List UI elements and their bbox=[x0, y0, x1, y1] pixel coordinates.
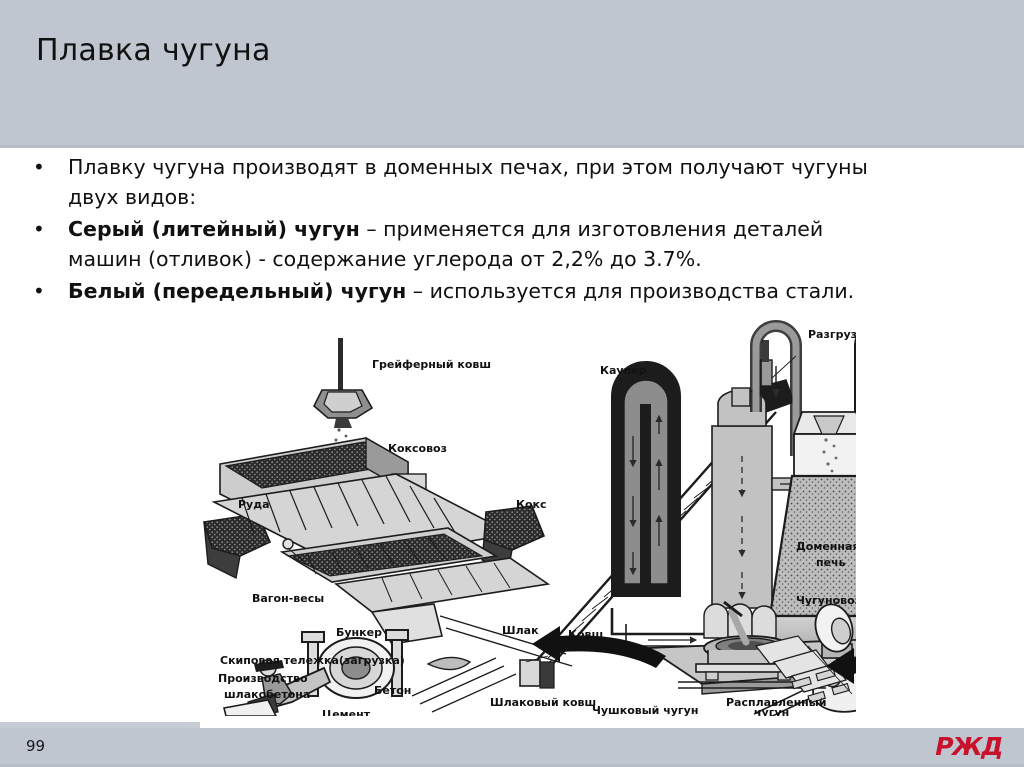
slide-footer: 99 РЖД bbox=[0, 728, 1024, 767]
label-grab-bucket: Грейферный ковш bbox=[372, 358, 491, 371]
label-iron-car: Чугуновоз bbox=[796, 594, 856, 607]
label-skip-loading: Скиповая тележка(загрузка) bbox=[220, 654, 405, 667]
bullet-3-line-1: Белый (передельный) чугун – используется… bbox=[68, 276, 1024, 306]
footer-accent-strip bbox=[0, 722, 200, 728]
bullet-marker: • bbox=[33, 152, 45, 182]
bullet-2-line-2: машин (отливок) - содержание углерода от… bbox=[68, 244, 1024, 274]
slide-content: • Плавку чугуна производят в доменных пе… bbox=[0, 152, 1024, 308]
label-ladle: Ковш bbox=[568, 628, 603, 641]
bullet-1-line-1: Плавку чугуна производят в доменных печа… bbox=[68, 152, 1024, 182]
label-coke-car: Коксовоз bbox=[388, 442, 447, 455]
blast-furnace-diagram: Грейферный ковш Коксовоз Кокс Руда Вагон… bbox=[196, 316, 856, 716]
bullet-item-3: • Белый (передельный) чугун – использует… bbox=[0, 276, 1024, 306]
label-blast-furnace-2: печь bbox=[816, 556, 846, 569]
bullet-item-2: • Серый (литейный) чугун – применяется д… bbox=[0, 214, 1024, 274]
label-weigh-wagon: Вагон-весы bbox=[252, 592, 324, 605]
label-ore: Руда bbox=[238, 498, 270, 511]
label-slag-concrete-2: шлакобетона bbox=[224, 688, 310, 701]
page-number: 99 bbox=[26, 737, 45, 755]
slide-header: Плавка чугуна bbox=[0, 0, 1024, 148]
label-skip-unloading: Разгрузка скиповой тележки bbox=[808, 328, 856, 341]
label-blast-furnace-1: Доменная bbox=[796, 540, 856, 553]
label-bunker: Бункер bbox=[336, 626, 382, 639]
rzd-logo: РЖД bbox=[935, 733, 1002, 761]
label-concrete: Бетон bbox=[374, 684, 411, 697]
label-coke: Кокс bbox=[516, 498, 547, 511]
bullet-marker: • bbox=[33, 276, 45, 306]
bullet-2-bold-lead: Серый (литейный) чугун bbox=[68, 217, 360, 241]
label-slag-concrete-1: Производство bbox=[218, 672, 308, 685]
label-slag-ladle: Шлаковый ковш bbox=[490, 696, 596, 709]
bullet-3-rest: – используется для производства стали. bbox=[406, 279, 854, 303]
bullet-2-line-1: Серый (литейный) чугун – применяется для… bbox=[68, 214, 1024, 244]
label-cowper: Каупер bbox=[600, 364, 647, 377]
bullet-item-1: • Плавку чугуна производят в доменных пе… bbox=[0, 152, 1024, 212]
bullet-marker: • bbox=[33, 214, 45, 244]
bullet-3-bold-lead: Белый (передельный) чугун bbox=[68, 279, 406, 303]
label-pig-iron: Чушковый чугун bbox=[592, 704, 698, 716]
bullet-1-line-2: двух видов: bbox=[68, 182, 1024, 212]
header-underline bbox=[0, 145, 1024, 148]
label-molten-iron-2: чугун bbox=[754, 706, 789, 716]
bullet-2-rest: – применяется для изготовления деталей bbox=[360, 217, 823, 241]
label-slag: Шлак bbox=[502, 624, 539, 637]
label-cement: Цемент bbox=[322, 708, 371, 716]
page-title: Плавка чугуна bbox=[36, 33, 271, 68]
